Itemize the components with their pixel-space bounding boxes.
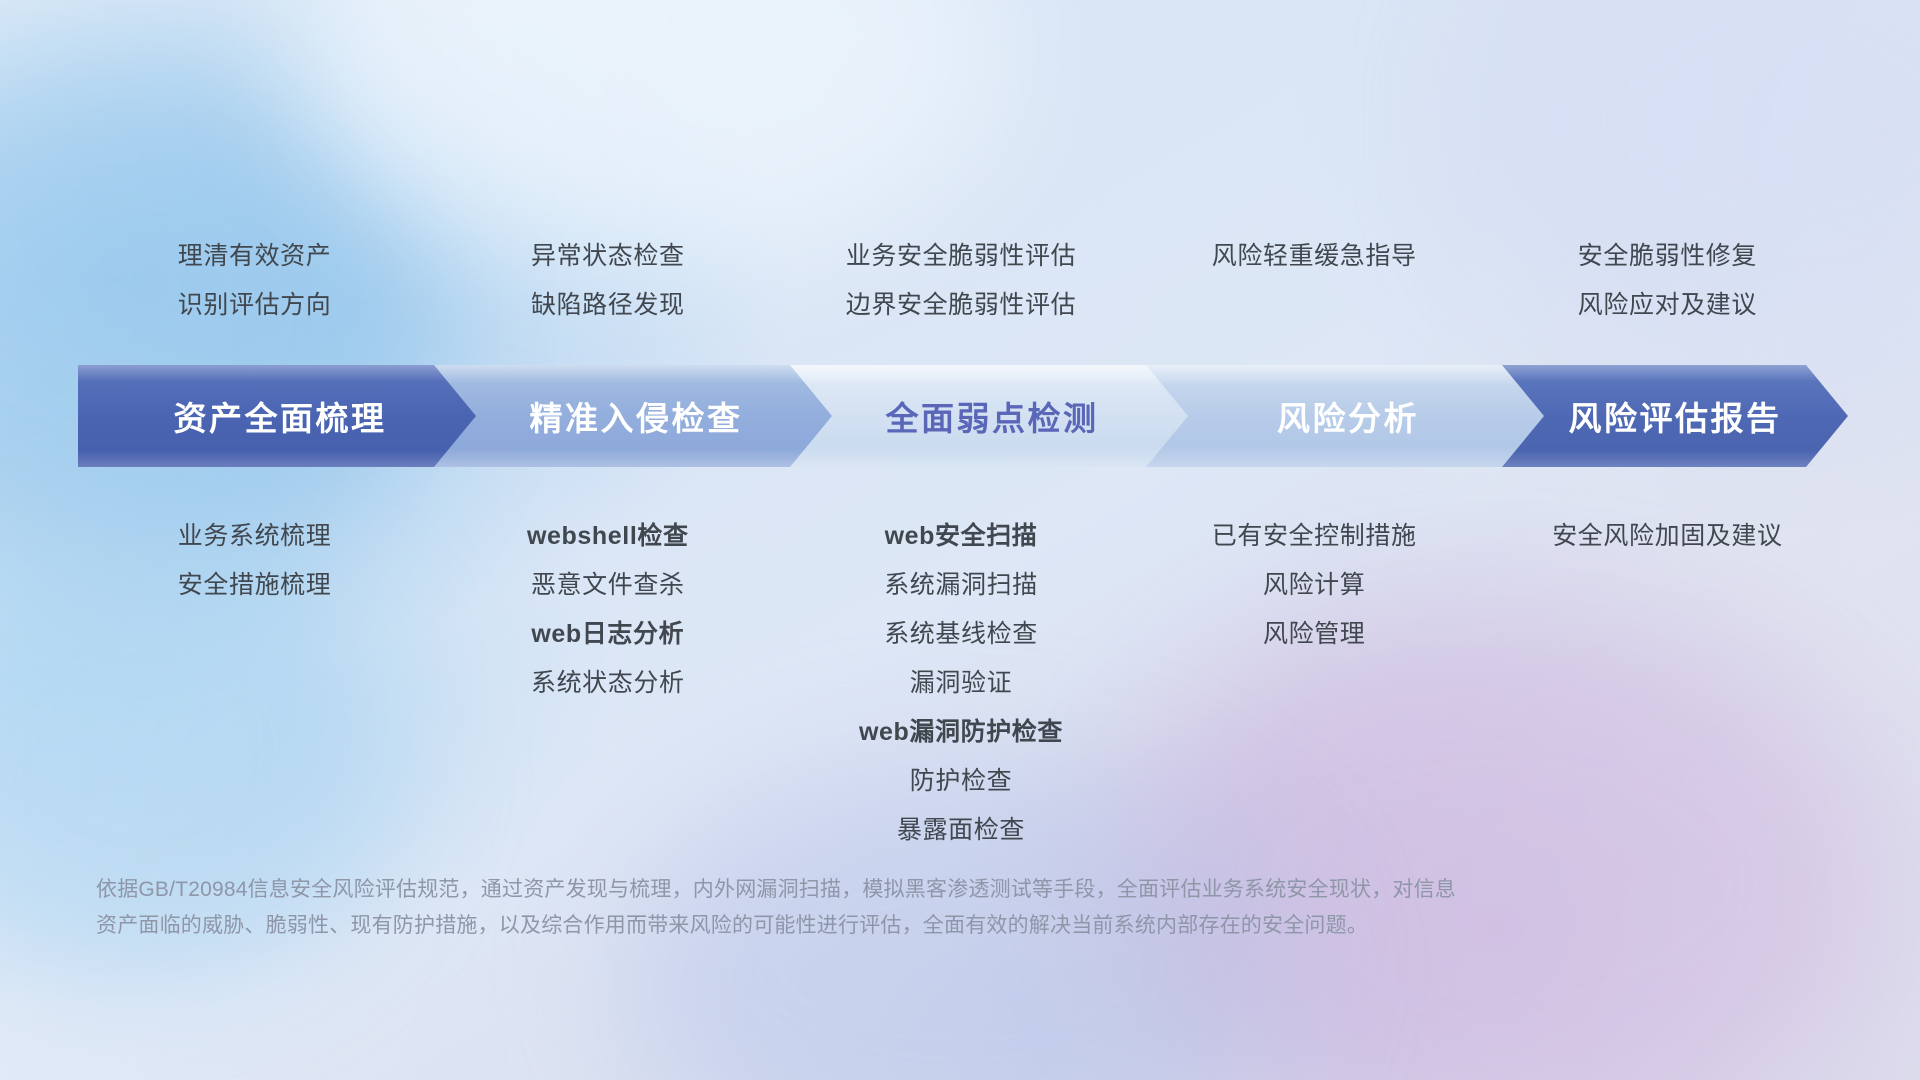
chevron-label: 风险评估报告 bbox=[1569, 392, 1782, 440]
list-item: 风险轻重缓急指导 bbox=[1144, 232, 1485, 281]
chevron-label: 资产全面梳理 bbox=[174, 392, 387, 440]
footer-note-line-2: 资产面临的威胁、脆弱性、现有防护措施，以及综合作用而带来风险的可能性进行评估，全… bbox=[96, 908, 1656, 944]
list-item: 系统状态分析 bbox=[437, 659, 778, 708]
list-item: 异常状态检查 bbox=[437, 232, 778, 281]
list-item: web安全扫描 bbox=[790, 512, 1131, 561]
list-item: web日志分析 bbox=[437, 610, 778, 659]
footer-note: 依据GB/T20984信息安全风险评估规范，通过资产发现与梳理，内外网漏洞扫描，… bbox=[96, 872, 1656, 944]
list-item: 安全风险加固及建议 bbox=[1497, 512, 1838, 561]
top-items-asset-inventory: 理清有效资产 识别评估方向 bbox=[78, 232, 431, 330]
process-chevron-band: 资产全面梳理 精准入侵检查 全面弱点检测 风险分析 风险评估报告 bbox=[78, 365, 1848, 467]
list-item: 安全脆弱性修复 bbox=[1497, 232, 1838, 281]
list-item: 恶意文件查杀 bbox=[437, 561, 778, 610]
chevron-stage-risk-report[interactable]: 风险评估报告 bbox=[1502, 365, 1848, 467]
background-glow-top bbox=[300, 0, 1000, 260]
list-item: 系统基线检查 bbox=[790, 610, 1131, 659]
chevron-label: 精准入侵检查 bbox=[530, 392, 743, 440]
list-item: 缺陷路径发现 bbox=[437, 281, 778, 330]
chevron-label: 风险分析 bbox=[1277, 392, 1419, 440]
list-item: 系统漏洞扫描 bbox=[790, 561, 1131, 610]
list-item: 防护检查 bbox=[790, 757, 1131, 806]
bottom-items-row: 业务系统梳理 安全措施梳理 webshell检查 恶意文件查杀 web日志分析 … bbox=[78, 512, 1844, 855]
chevron-stage-weakness-detection[interactable]: 全面弱点检测 bbox=[790, 365, 1194, 467]
bottom-items-weakness-detection: web安全扫描 系统漏洞扫描 系统基线检查 漏洞验证 web漏洞防护检查 防护检… bbox=[784, 512, 1137, 855]
chevron-stage-risk-analysis[interactable]: 风险分析 bbox=[1146, 365, 1550, 467]
slide-canvas: 理清有效资产 识别评估方向 异常状态检查 缺陷路径发现 业务安全脆弱性评估 边界… bbox=[0, 0, 1920, 1080]
list-item: 业务系统梳理 bbox=[84, 512, 425, 561]
list-item: 漏洞验证 bbox=[790, 659, 1131, 708]
top-items-intrusion-check: 异常状态检查 缺陷路径发现 bbox=[431, 232, 784, 330]
top-items-risk-report: 安全脆弱性修复 风险应对及建议 bbox=[1491, 232, 1844, 330]
list-item: 业务安全脆弱性评估 bbox=[790, 232, 1131, 281]
list-item: 边界安全脆弱性评估 bbox=[790, 281, 1131, 330]
top-items-row: 理清有效资产 识别评估方向 异常状态检查 缺陷路径发现 业务安全脆弱性评估 边界… bbox=[78, 232, 1844, 330]
list-item: 安全措施梳理 bbox=[84, 561, 425, 610]
list-item: webshell检查 bbox=[437, 512, 778, 561]
list-item: 已有安全控制措施 bbox=[1144, 512, 1485, 561]
list-item: 风险管理 bbox=[1144, 610, 1485, 659]
list-item: 理清有效资产 bbox=[84, 232, 425, 281]
list-item: 暴露面检查 bbox=[790, 806, 1131, 855]
list-item: 风险应对及建议 bbox=[1497, 281, 1838, 330]
bottom-items-risk-report: 安全风险加固及建议 bbox=[1491, 512, 1844, 855]
list-item: 风险计算 bbox=[1144, 561, 1485, 610]
bottom-items-asset-inventory: 业务系统梳理 安全措施梳理 bbox=[78, 512, 431, 855]
chevron-label: 全面弱点检测 bbox=[886, 392, 1099, 440]
top-items-weakness-detection: 业务安全脆弱性评估 边界安全脆弱性评估 bbox=[784, 232, 1137, 330]
bottom-items-risk-analysis: 已有安全控制措施 风险计算 风险管理 bbox=[1138, 512, 1491, 855]
list-item: web漏洞防护检查 bbox=[790, 708, 1131, 757]
top-items-risk-analysis: 风险轻重缓急指导 bbox=[1138, 232, 1491, 330]
chevron-stage-asset-inventory[interactable]: 资产全面梳理 bbox=[78, 365, 482, 467]
bottom-items-intrusion-check: webshell检查 恶意文件查杀 web日志分析 系统状态分析 bbox=[431, 512, 784, 855]
footer-note-line-1: 依据GB/T20984信息安全风险评估规范，通过资产发现与梳理，内外网漏洞扫描，… bbox=[96, 872, 1656, 908]
chevron-stage-intrusion-check[interactable]: 精准入侵检查 bbox=[434, 365, 838, 467]
list-item: 识别评估方向 bbox=[84, 281, 425, 330]
